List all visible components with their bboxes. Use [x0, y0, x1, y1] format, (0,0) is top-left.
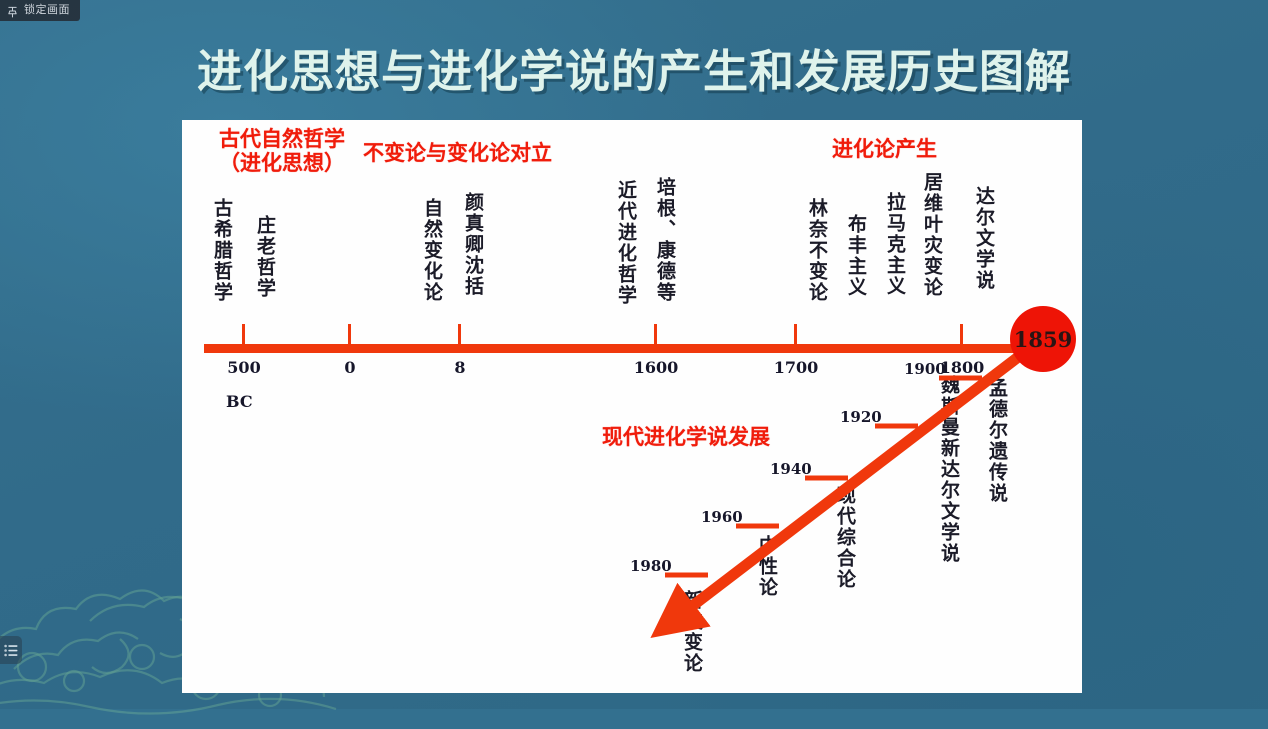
lock-screen-button[interactable]: 锁定画面: [0, 0, 80, 21]
label-mendel-heredity: 孟德尔遗传说: [987, 378, 1006, 504]
label-zhuang-lao-philosophy: 庄老哲学: [255, 215, 274, 299]
year-badge-1859: 1859: [1010, 306, 1076, 372]
axis-tick: [794, 324, 797, 344]
axis-tick: [960, 324, 963, 344]
diagonal-year-1920: 1920: [840, 408, 882, 426]
label-weismann-neodarwinism: 魏斯曼新达尔文学说: [939, 375, 958, 564]
diagonal-year-1960: 1960: [701, 508, 743, 526]
label-cuvier-catastrophism: 居维叶灾变论: [922, 172, 941, 298]
heading-line-2: （进化思想）: [219, 151, 345, 175]
heading-evolution-theory-born: 进化论产生: [832, 138, 937, 162]
axis-tick: [242, 324, 245, 344]
diagram-panel: 古代自然哲学 （进化思想） 不变论与变化论对立 进化论产生 现代进化学说发展 古…: [182, 120, 1082, 693]
axis-label-1600: 1600: [634, 358, 679, 377]
label-natural-change-theory: 自然变化论: [422, 198, 441, 303]
axis-label-500bc: 500: [227, 358, 260, 377]
heading-ancient-natural-philosophy: 古代自然哲学 （进化思想）: [202, 128, 362, 175]
page-title: 进化思想与进化学说的产生和发展历史图解: [0, 35, 1268, 100]
label-lamarckism: 拉马克主义: [885, 192, 904, 297]
label-neutral-theory: 中性论: [757, 535, 776, 598]
lock-screen-label: 锁定画面: [24, 0, 70, 21]
label-modern-evolution-philosophy: 近代进化哲学: [616, 180, 635, 306]
heading-modern-evolution-development: 现代进化学说发展: [602, 426, 770, 450]
label-modern-synthesis: 现代综合论: [835, 485, 854, 590]
diagonal-year-1980: 1980: [630, 557, 672, 575]
label-new-catastrophism: 新灾变论: [682, 590, 701, 674]
side-list-tab-button[interactable]: [0, 636, 22, 664]
diagonal-year-1940: 1940: [770, 460, 812, 478]
axis-label-bc: BC: [226, 392, 253, 411]
heading-fixity-vs-change: 不变论与变化论对立: [363, 142, 552, 166]
diagram-content: 古代自然哲学 （进化思想） 不变论与变化论对立 进化论产生 现代进化学说发展 古…: [182, 120, 1082, 693]
axis-tick: [458, 324, 461, 344]
label-yan-zhenqing-shen-kuo: 颜真卿沈括: [463, 192, 482, 297]
axis-tick: [654, 324, 657, 344]
axis-label-0: 0: [344, 358, 355, 377]
label-buffon-doctrine: 布丰主义: [846, 214, 865, 298]
label-bacon-kant-etc: 培根、康德等: [655, 177, 674, 303]
label-linnaeus-fixity: 林奈不变论: [807, 198, 826, 303]
axis-label-8: 8: [454, 358, 465, 377]
label-darwin-theory: 达尔文学说: [974, 186, 993, 291]
label-greek-philosophy: 古希腊哲学: [212, 198, 231, 303]
diagonal-year-1900: 1900: [904, 360, 946, 378]
pin-icon: [7, 5, 18, 17]
axis-label-1800: 1800: [940, 358, 985, 377]
axis-tick: [348, 324, 351, 344]
axis-label-1700: 1700: [774, 358, 819, 377]
heading-line-1: 古代自然哲学: [219, 127, 345, 151]
timeline-axis: [204, 344, 1036, 353]
list-icon: [4, 644, 18, 657]
